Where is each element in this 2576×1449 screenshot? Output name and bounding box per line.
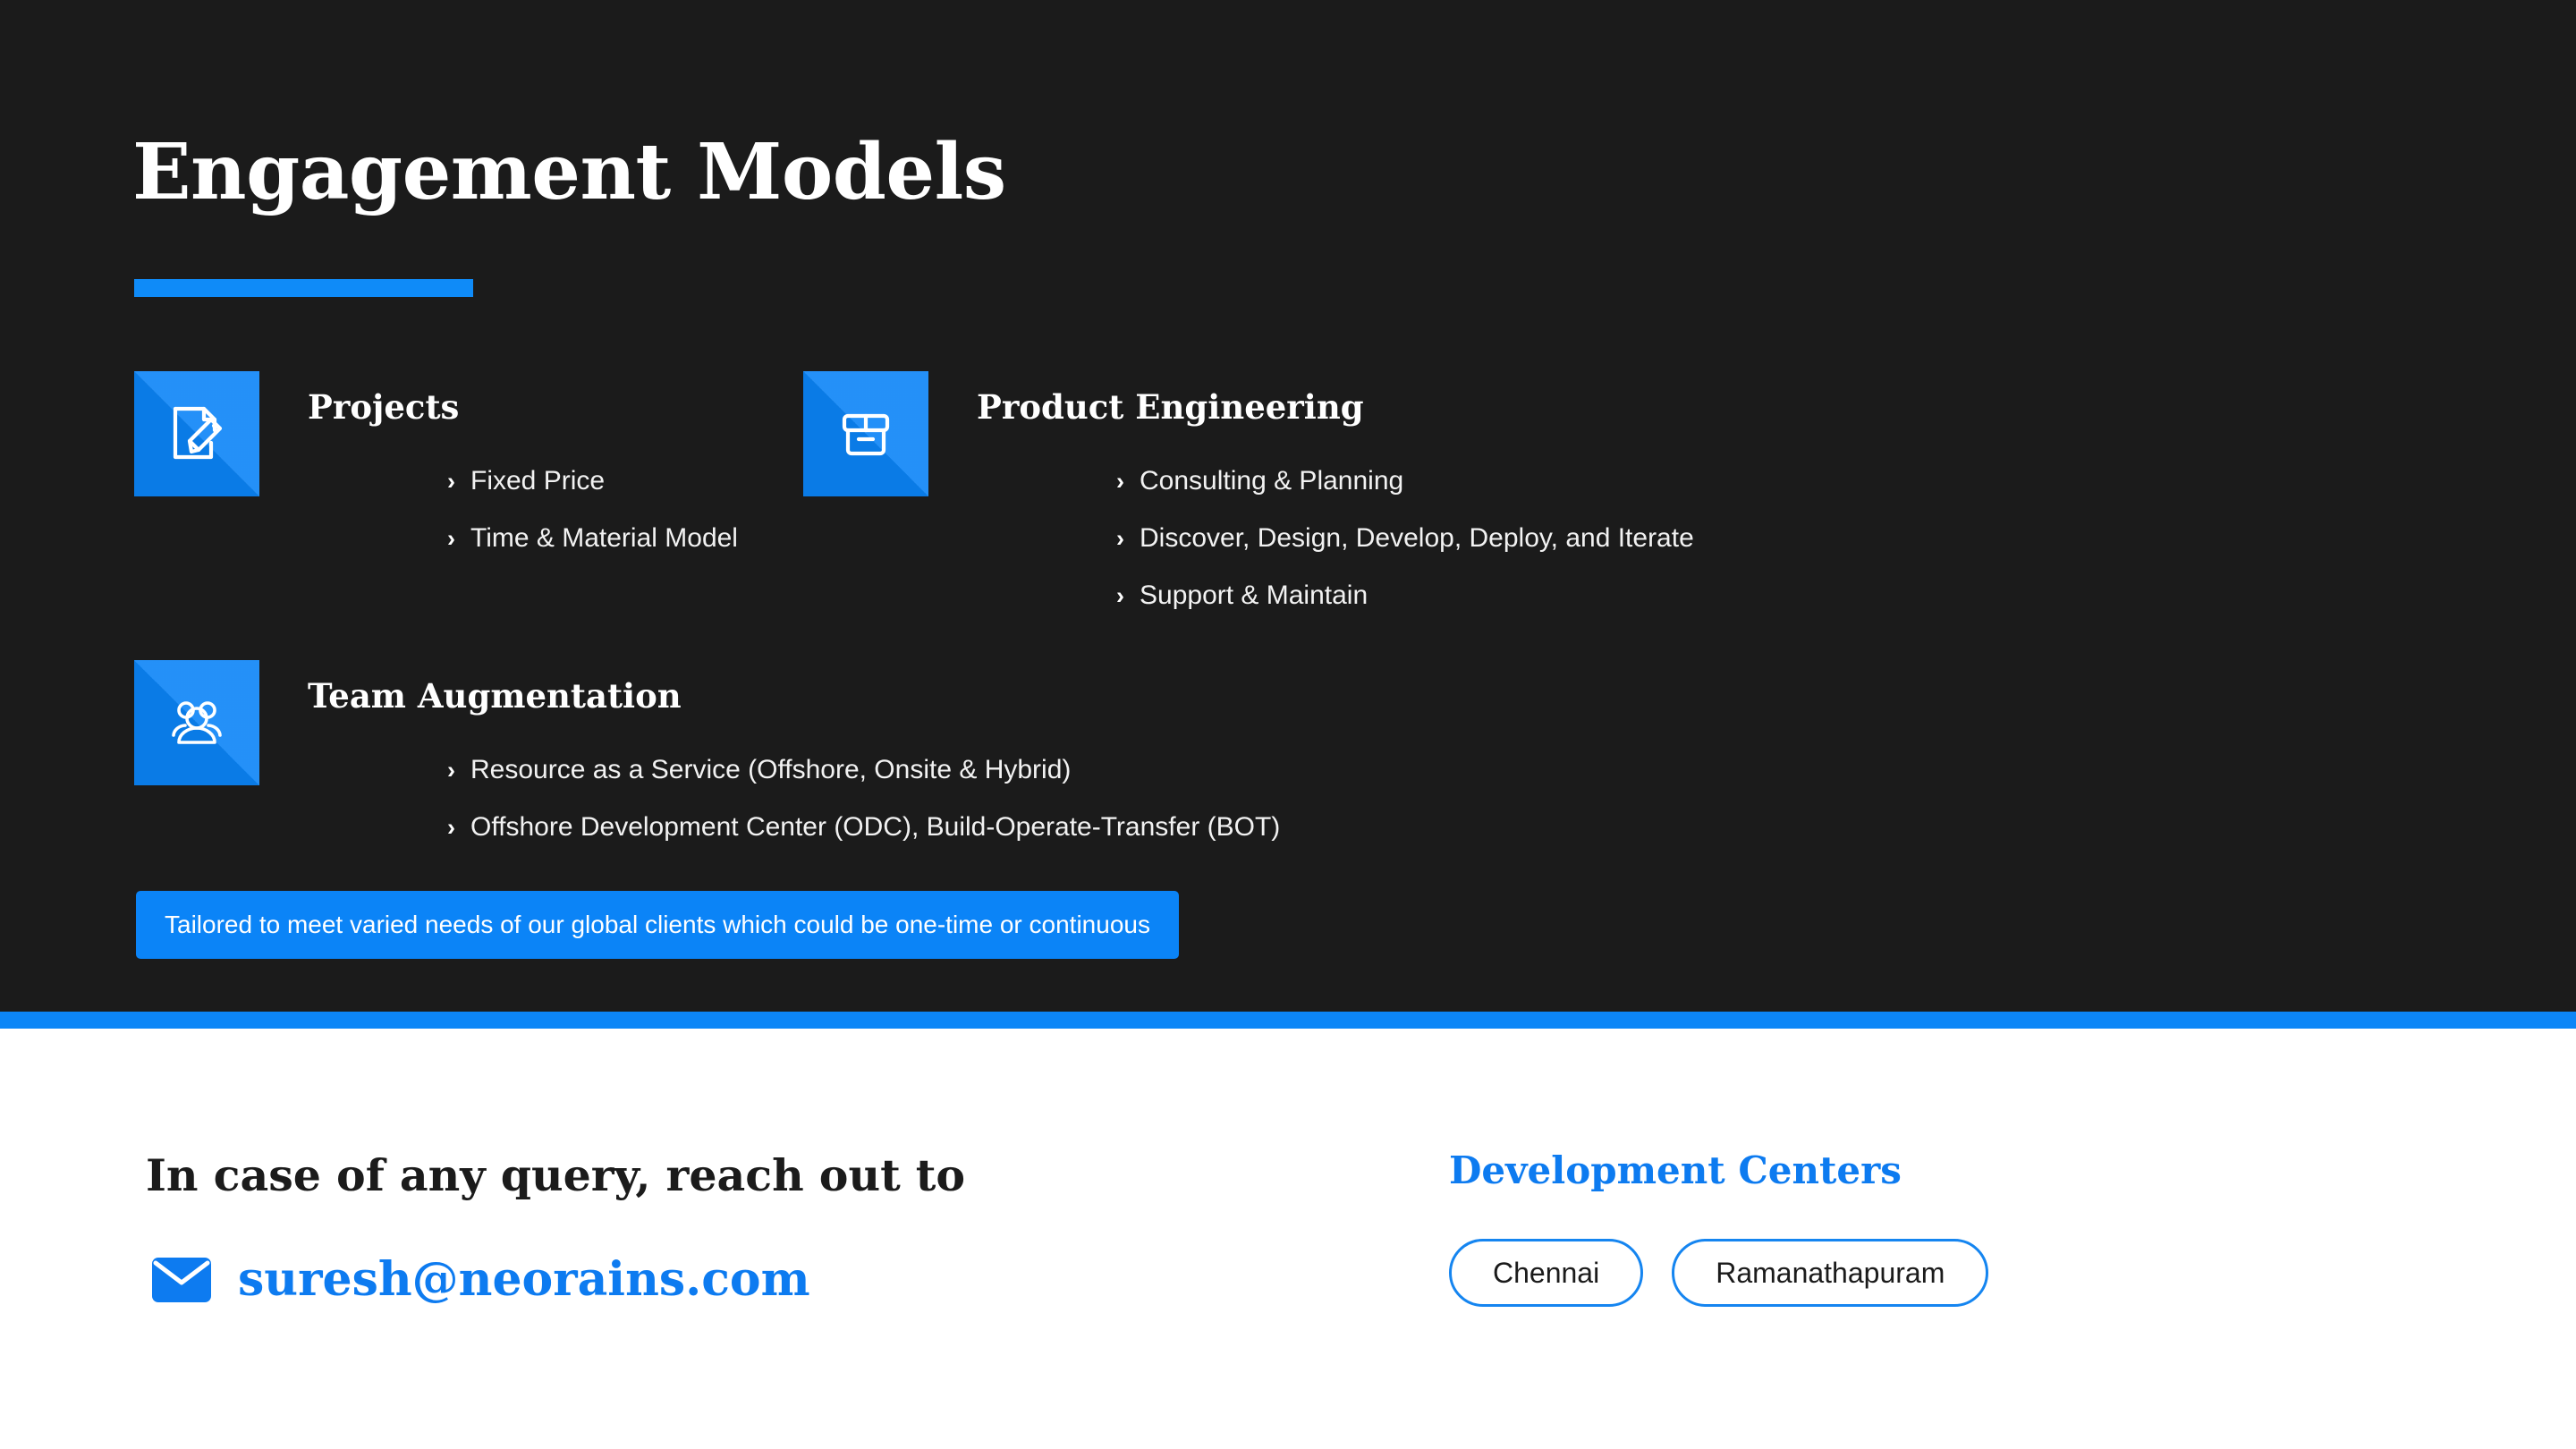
list-item: › Support & Maintain	[1116, 580, 1694, 638]
box-package-icon	[803, 371, 928, 496]
envelope-icon	[152, 1258, 211, 1302]
page-title: Engagement Models	[132, 134, 1006, 211]
location-chip-ramanathapuram[interactable]: Ramanathapuram	[1672, 1239, 1988, 1307]
development-centers-list: Chennai Ramanathapuram	[1449, 1239, 1988, 1307]
model-item-list: › Consulting & Planning › Discover, Desi…	[1116, 466, 1694, 638]
chevron-right-icon: ›	[447, 525, 470, 553]
list-item: › Offshore Development Center (ODC), Bui…	[447, 812, 1280, 869]
chevron-right-icon: ›	[1116, 525, 1140, 553]
model-title: Projects	[308, 391, 459, 424]
chevron-right-icon: ›	[1116, 582, 1140, 610]
list-item: › Time & Material Model	[447, 523, 738, 580]
list-item-label: Discover, Design, Develop, Deploy, and I…	[1140, 523, 1694, 554]
chevron-right-icon: ›	[447, 814, 470, 842]
email-address-link[interactable]: suresh@neorains.com	[238, 1257, 810, 1303]
document-pencil-icon	[134, 371, 259, 496]
callout-text: Tailored to meet varied needs of our glo…	[165, 911, 1150, 939]
list-item: › Resource as a Service (Offshore, Onsit…	[447, 755, 1280, 812]
model-title: Product Engineering	[977, 391, 1364, 424]
section-divider	[0, 1012, 2576, 1029]
dark-section: Engagement Models Projects ›	[0, 0, 2576, 1012]
location-chip-chennai[interactable]: Chennai	[1449, 1239, 1643, 1307]
model-title: Team Augmentation	[308, 680, 682, 713]
list-item: › Discover, Design, Develop, Deploy, and…	[1116, 523, 1694, 580]
list-item-label: Time & Material Model	[470, 523, 738, 554]
development-centers-title: Development Centers	[1449, 1152, 1902, 1190]
location-chip-label: Chennai	[1493, 1257, 1599, 1290]
list-item-label: Fixed Price	[470, 466, 605, 496]
list-item-label: Consulting & Planning	[1140, 466, 1403, 496]
list-item: › Fixed Price	[447, 466, 738, 523]
list-item-label: Offshore Development Center (ODC), Build…	[470, 812, 1280, 843]
model-item-list: › Fixed Price › Time & Material Model	[447, 466, 738, 580]
model-item-list: › Resource as a Service (Offshore, Onsit…	[447, 755, 1280, 869]
email-row[interactable]: suresh@neorains.com	[152, 1257, 810, 1303]
people-group-icon	[134, 660, 259, 785]
list-item-label: Resource as a Service (Offshore, Onsite …	[470, 755, 1071, 785]
title-accent-bar	[134, 279, 473, 297]
chevron-right-icon: ›	[1116, 468, 1140, 496]
list-item-label: Support & Maintain	[1140, 580, 1368, 611]
list-item: › Consulting & Planning	[1116, 466, 1694, 523]
chevron-right-icon: ›	[447, 468, 470, 496]
slide-engagement-models: Engagement Models Projects ›	[0, 0, 2576, 1449]
contact-heading: In case of any query, reach out to	[146, 1154, 965, 1198]
contact-section	[0, 1029, 2576, 1449]
chevron-right-icon: ›	[447, 757, 470, 784]
callout-banner: Tailored to meet varied needs of our glo…	[136, 891, 1179, 959]
location-chip-label: Ramanathapuram	[1716, 1257, 1945, 1290]
